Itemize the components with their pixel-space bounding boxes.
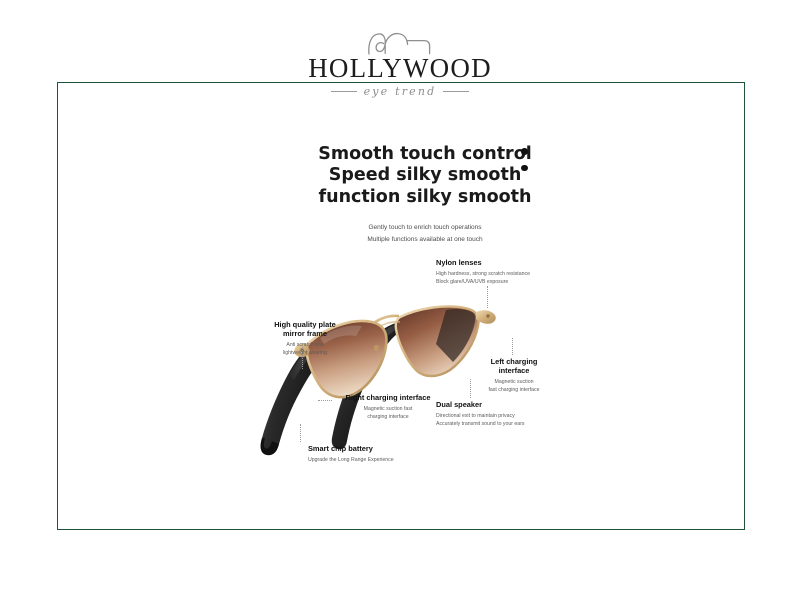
callout-body-line-1: Directional exit to maintain privacy: [436, 412, 546, 420]
headline-line-1: Smooth touch control: [300, 144, 550, 165]
callout-body-line-1: High hardness, strong scratch resistance: [436, 270, 548, 278]
hero-subtitle-line-1: Gently touch to enrich touch operations: [300, 222, 550, 234]
callout-title: Right charging interface: [334, 393, 442, 402]
callout-high-quality-plate-mirror-frame: High quality plate mirror frame Anti scr…: [262, 320, 348, 358]
callout-body: Anti scratch and lightweight wearing: [262, 341, 348, 358]
callout-title-line-1: Dual speaker: [436, 400, 482, 409]
callout-title-line-1: Left charging: [491, 357, 538, 366]
callout-body: Magnetic suction fast charging interface: [334, 405, 442, 422]
decorative-dots: [521, 148, 528, 181]
brand-wordmark: HOLLYWOOD: [308, 55, 492, 82]
callout-title-line-1: Nylon lenses: [436, 258, 482, 267]
callout-body: Upgrade the Long Range Experience: [308, 456, 412, 464]
callout-title-line-1: Right charging interface: [345, 393, 430, 402]
callout-dual-speaker: Dual speaker Directional exit to maintai…: [436, 400, 546, 428]
callout-title: Dual speaker: [436, 400, 546, 409]
callout-title: Left charging interface: [470, 357, 558, 376]
headline-line-3: function silky smooth: [300, 187, 550, 208]
callout-right-charging-interface: Right charging interface Magnetic suctio…: [334, 393, 442, 421]
callout-title-line-2: mirror frame: [283, 329, 327, 338]
leader-line-right-charge: [318, 400, 332, 401]
callout-body-line-1: Magnetic suction fast: [334, 405, 442, 413]
leader-line-battery: [300, 424, 301, 442]
hero-text-block: Smooth touch control Speed silky smooth …: [300, 144, 550, 246]
callout-body-line-1: Anti scratch and: [262, 341, 348, 349]
headline-line-2: Speed silky smooth: [300, 165, 550, 186]
callout-smart-chip-battery: Smart chip battery Upgrade the Long Rang…: [308, 444, 412, 464]
callout-body-line-2: charging interface: [334, 413, 442, 421]
tagline-rule-right: [443, 91, 469, 92]
brand-script-tagline: eye trend: [364, 85, 437, 98]
callout-nylon-lenses: Nylon lenses High hardness, strong scrat…: [436, 258, 548, 286]
callout-body-line-2: Accurately transmit sound to your ears: [436, 420, 546, 428]
dot-icon-1: [521, 148, 528, 155]
callout-title: High quality plate mirror frame: [262, 320, 348, 339]
hero-subtitle-line-2: Multiple functions available at one touc…: [300, 234, 550, 246]
callout-body: High hardness, strong scratch resistance…: [436, 270, 548, 287]
page-title: Smooth touch control Speed silky smooth …: [300, 144, 550, 208]
callout-body-line-2: lightweight wearing: [262, 349, 348, 357]
dot-icon-2: [521, 165, 528, 172]
callout-left-charging-interface: Left charging interface Magnetic suction…: [470, 357, 558, 395]
callout-title-line-1: High quality plate: [274, 320, 336, 329]
callout-title: Smart chip battery: [308, 444, 412, 453]
callout-body-line-2: Block glare/UVA/UVB exposure: [436, 278, 548, 286]
slide-canvas: HOLLYWOOD eye trend Smooth touch control…: [0, 0, 800, 600]
leader-line-nylon: [487, 286, 488, 308]
brand-logo: HOLLYWOOD eye trend: [0, 28, 800, 98]
callout-body: Directional exit to maintain privacy Acc…: [436, 412, 546, 429]
callout-body-line-1: Magnetic suction: [470, 378, 558, 386]
callout-title-line-2: interface: [499, 366, 530, 375]
callout-body: Magnetic suction fast charging interface: [470, 378, 558, 395]
callout-body-line-2: fast charging interface: [470, 386, 558, 394]
brand-tagline-row: eye trend: [331, 85, 470, 98]
tagline-rule-left: [331, 91, 357, 92]
callout-body-line-1: Upgrade the Long Range Experience: [308, 456, 412, 464]
leader-line-left-charge: [512, 338, 513, 355]
callout-title: Nylon lenses: [436, 258, 548, 267]
hero-subtitle: Gently touch to enrich touch operations …: [300, 222, 550, 246]
callout-title-line-1: Smart chip battery: [308, 444, 373, 453]
